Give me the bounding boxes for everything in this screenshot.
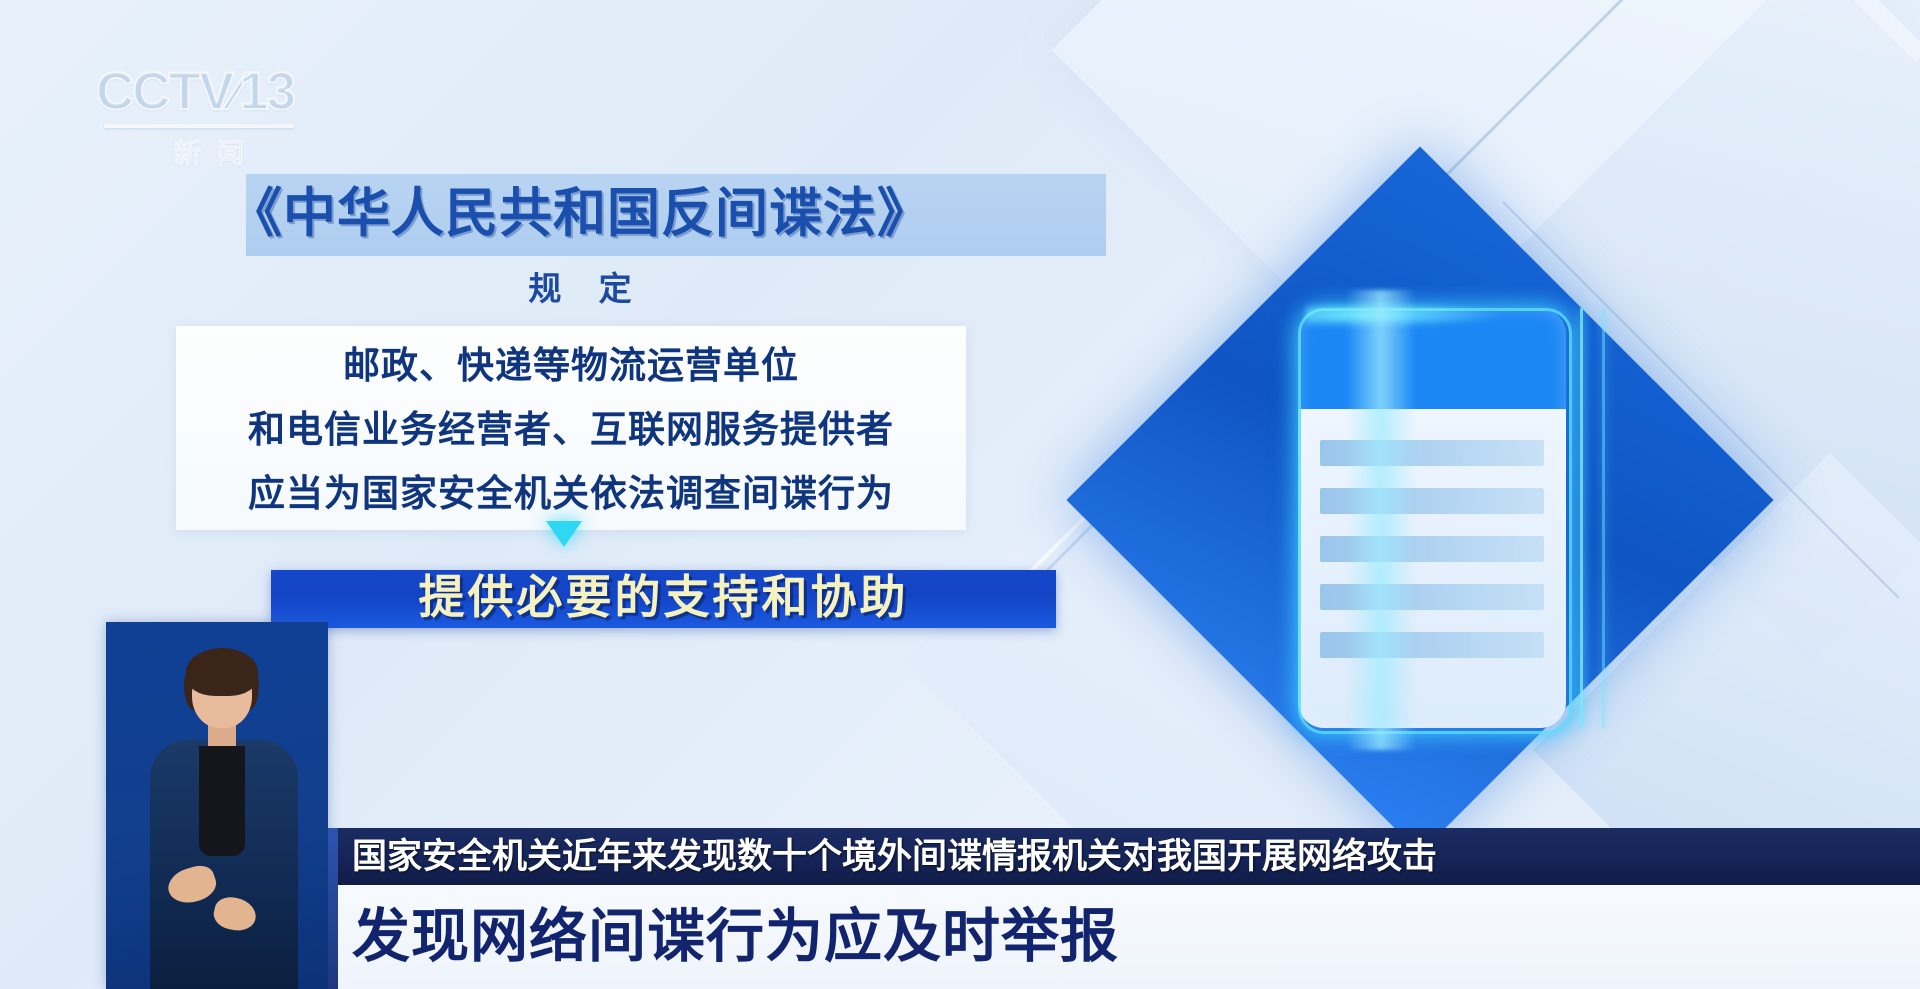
document-card-icon [1110, 190, 1730, 810]
law-title: 《中华人民共和国反间谍法》 [210, 166, 950, 262]
stipulates-label: 规 定 [400, 262, 760, 310]
provision-line-1: 邮政、快递等物流运营单位 [176, 334, 966, 398]
provision-text: 邮政、快递等物流运营单位 和电信业务经营者、互联网服务提供者 应当为国家安全机关… [176, 334, 966, 526]
provision-line-3: 应当为国家安全机关依法调查间谍行为 [176, 462, 966, 526]
document-card-body [1298, 308, 1566, 728]
interpreter-shirt [199, 746, 245, 856]
triangle-down-icon [546, 521, 582, 547]
conclusion-text: 提供必要的支持和协助 [271, 566, 1056, 628]
interpreter-hair [186, 648, 258, 696]
provision-line-2: 和电信业务经营者、互联网服务提供者 [176, 398, 966, 462]
document-sheen [1346, 290, 1416, 750]
document-edge-highlight [1602, 308, 1605, 728]
headline-text: 发现网络间谍行为应及时举报 [352, 885, 1119, 989]
news-ticker-text: 国家安全机关近年来发现数十个境外间谍情报机关对我国开展网络攻击 [352, 828, 1437, 885]
broadcast-screen: CCTV⁄13 新闻 《中华人民共和国反间谍法》 规 定 邮政、快递等物流运营单… [0, 0, 1920, 989]
document-edge-highlight [1580, 308, 1583, 728]
sign-language-interpreter [106, 622, 328, 989]
